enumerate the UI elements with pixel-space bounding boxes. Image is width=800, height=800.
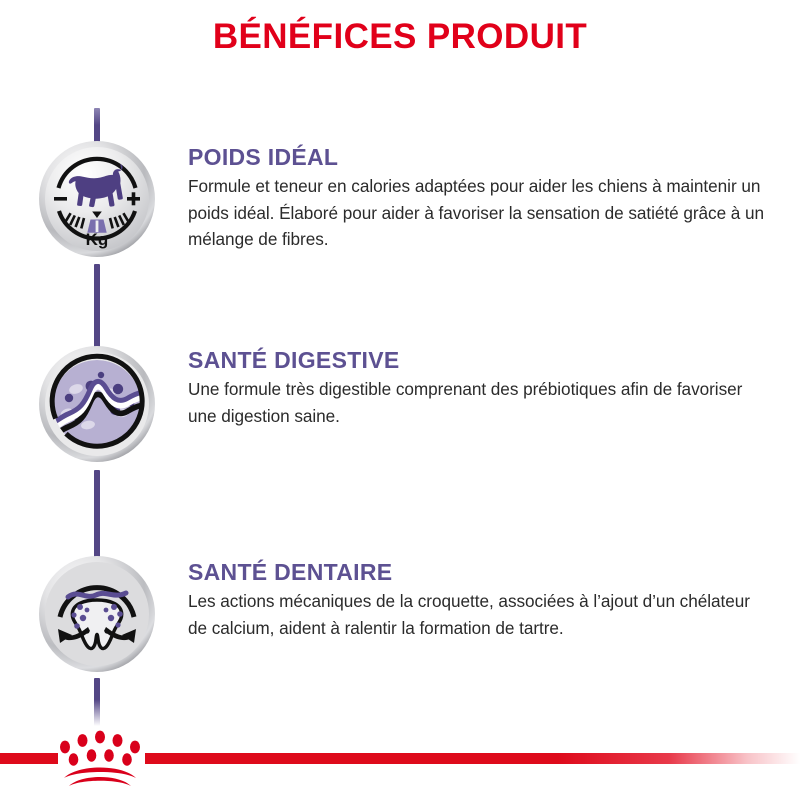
benefit-body: Les actions mécaniques de la croquette, …: [188, 588, 772, 641]
footer-bar-right: [145, 753, 800, 764]
product-benefits-page: BÉNÉFICES PRODUIT: [0, 0, 800, 800]
benefit-heading: SANTÉ DENTAIRE: [188, 559, 772, 585]
benefit-text-digestive: SANTÉ DIGESTIVE Une formule très digesti…: [188, 347, 772, 429]
benefit-text-weight: POIDS IDÉAL Formule et teneur en calorie…: [188, 144, 772, 253]
spine-segment-1-2: [94, 264, 100, 350]
benefit-heading: POIDS IDÉAL: [188, 144, 772, 170]
svg-text:Kg: Kg: [86, 230, 109, 249]
royal-canin-crown-logo: [52, 726, 148, 788]
digestive-wave-icon: [38, 345, 156, 463]
dog-weight-scale-icon: Kg: [38, 140, 156, 258]
spine-segment-2-3: [94, 470, 100, 558]
footer-bar-left: [0, 753, 58, 764]
benefit-body: Formule et teneur en calories adaptées p…: [188, 173, 772, 253]
page-title: BÉNÉFICES PRODUIT: [0, 17, 800, 57]
benefit-body: Une formule très digestible comprenant d…: [188, 376, 772, 429]
tooth-dental-icon: [38, 555, 156, 673]
benefit-text-dental: SANTÉ DENTAIRE Les actions mécaniques de…: [188, 559, 772, 641]
benefit-heading: SANTÉ DIGESTIVE: [188, 347, 772, 373]
spine-segment-bottom: [94, 678, 100, 726]
